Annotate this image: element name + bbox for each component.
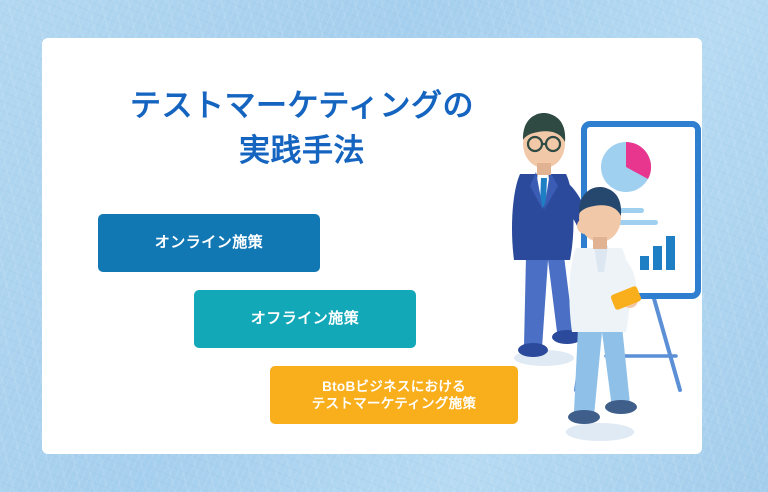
item-offline[interactable]: オフライン施策 — [194, 290, 416, 348]
page-title: テストマーケティングの 実践手法 — [42, 84, 562, 174]
presentation-illustration — [490, 60, 702, 450]
slide-canvas: テストマーケティングの 実践手法 オンライン施策 オフライン施策 BtoBビジネ… — [0, 0, 768, 492]
listener-shadow — [566, 423, 634, 441]
item-btob[interactable]: BtoBビジネスにおける テストマーケティング施策 — [270, 366, 518, 424]
content-card: テストマーケティングの 実践手法 オンライン施策 オフライン施策 BtoBビジネ… — [42, 38, 702, 454]
pie-chart — [601, 142, 651, 192]
item-online[interactable]: オンライン施策 — [98, 214, 320, 272]
